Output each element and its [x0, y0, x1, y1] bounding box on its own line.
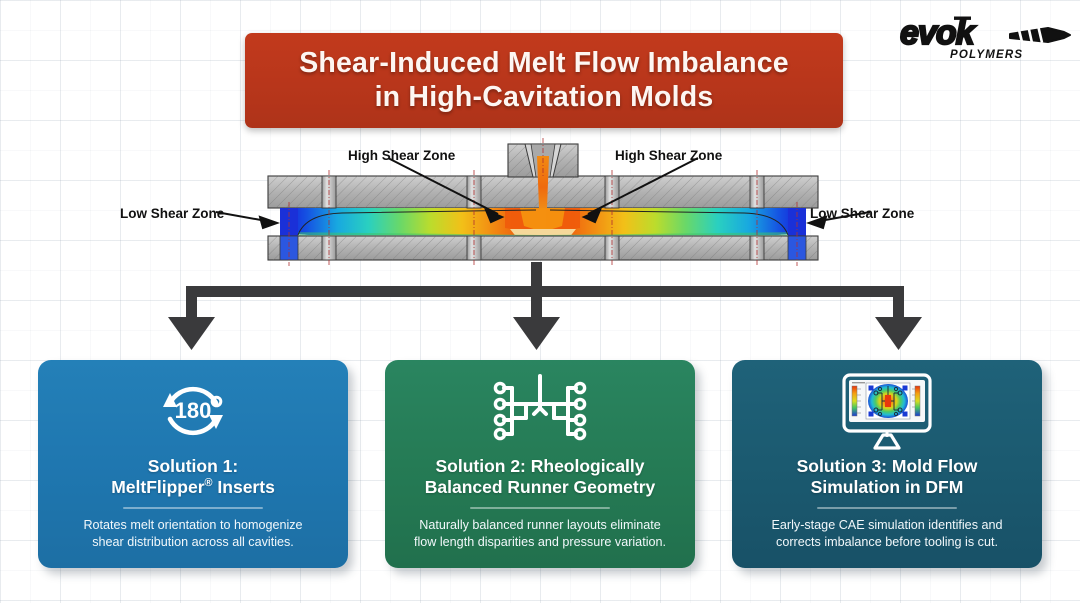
card-3-desc-line-1: Early-stage CAE simulation identifies an… [772, 517, 1003, 534]
screw-bolt-icon [1010, 25, 1070, 43]
title-line-2: in High-Cavitation Molds [299, 81, 789, 115]
card-3-divider [817, 507, 957, 509]
card-2-desc-line-1: Naturally balanced runner layouts elimin… [414, 517, 666, 534]
label-high-shear-zone-left: High Shear Zone [348, 148, 455, 163]
card-2-title: Solution 2: Rheologically Balanced Runne… [415, 456, 665, 498]
card-3-desc-line-2: corrects imbalance before tooling is cut… [772, 534, 1003, 551]
card-3-title: Solution 3: Mold Flow Simulation in DFM [787, 456, 988, 498]
label-low-shear-zone-right: Low Shear Zone [810, 206, 914, 221]
brand-logo: evok POLYMERS [898, 8, 1074, 60]
title-line-1: Shear-Induced Melt Flow Imbalance [299, 47, 789, 81]
rotation-icon-label: 180 [175, 398, 212, 423]
logo-subtext: POLYMERS [950, 49, 1023, 60]
card-2-title-line-2: Balanced Runner Geometry [425, 477, 655, 498]
logo-wordmark: evok [900, 14, 977, 52]
card-1-title-line-2: MeltFlipper® Inserts [111, 477, 275, 498]
card-2-description: Naturally balanced runner layouts elimin… [398, 517, 682, 552]
monitor-mold-flow-simulation-icon [835, 374, 939, 450]
runner-tree-branching-icon [490, 374, 590, 450]
mold-cross-section-diagram: High Shear Zone High Shear Zone Low Shea… [110, 136, 980, 268]
solution-card-2[interactable]: Solution 2: Rheologically Balanced Runne… [385, 360, 695, 568]
solution-card-1[interactable]: 180 Solution 1: MeltFlipper® Inserts Rot… [38, 360, 348, 568]
card-3-title-line-2: Simulation in DFM [797, 477, 978, 498]
label-low-shear-zone-left: Low Shear Zone [120, 206, 224, 221]
bracket-connector [150, 262, 940, 358]
card-1-title: Solution 1: MeltFlipper® Inserts [101, 456, 285, 498]
solution-card-3[interactable]: Solution 3: Mold Flow Simulation in DFM … [732, 360, 1042, 568]
lower-mold-plate [268, 236, 818, 260]
card-2-title-line-1: Solution 2: Rheologically [425, 456, 655, 477]
arrow-down-2 [513, 317, 560, 350]
arrow-down-1 [168, 317, 215, 350]
card-1-desc-line-2: shear distribution across all cavities. [83, 534, 302, 551]
card-2-divider [470, 507, 610, 509]
card-2-desc-line-2: flow length disparities and pressure var… [414, 534, 666, 551]
card-1-title-line-1: Solution 1: [111, 456, 275, 477]
card-1-divider [123, 507, 263, 509]
card-1-desc-line-1: Rotates melt orientation to homogenize [83, 517, 302, 534]
rotation-180-degrees-icon: 180 [150, 374, 236, 450]
card-3-title-line-1: Solution 3: Mold Flow [797, 456, 978, 477]
card-3-description: Early-stage CAE simulation identifies an… [756, 517, 1019, 552]
card-1-description: Rotates melt orientation to homogenize s… [67, 517, 318, 552]
arrow-down-3 [875, 317, 922, 350]
label-high-shear-zone-right: High Shear Zone [615, 148, 722, 163]
title-banner: Shear-Induced Melt Flow Imbalance in Hig… [245, 33, 843, 128]
